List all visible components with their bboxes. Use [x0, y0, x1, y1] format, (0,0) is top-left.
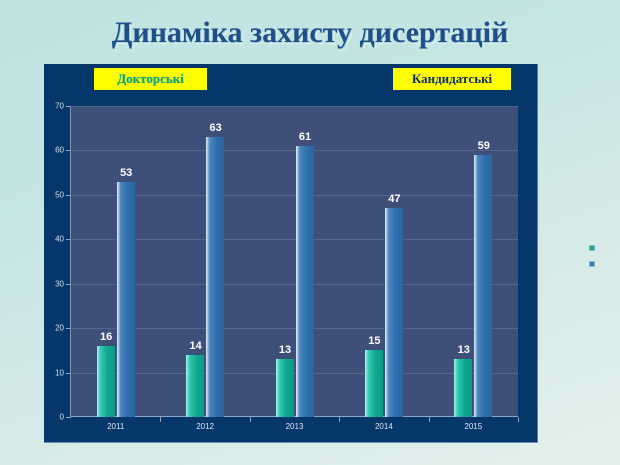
bar-candidate: 63 [206, 137, 224, 417]
y-axis-tick-label: 10 [38, 368, 64, 377]
x-axis-tick-mark [339, 417, 340, 422]
y-axis-tick-label: 0 [38, 413, 64, 422]
bar-value-label: 47 [388, 193, 400, 205]
gridline [71, 106, 518, 107]
bar-value-label: 14 [189, 340, 201, 352]
y-axis-tick-label: 70 [38, 102, 64, 111]
bar-candidate: 53 [117, 182, 135, 417]
bar-value-label: 15 [368, 335, 380, 347]
gridline [71, 195, 518, 196]
bar-value-label: 13 [279, 344, 291, 356]
y-axis-tick-label: 40 [38, 235, 64, 244]
gridline [71, 284, 518, 285]
x-axis-tick-mark [518, 417, 519, 422]
x-axis-line [71, 416, 518, 417]
x-axis-tick-label: 2014 [354, 422, 414, 431]
plot-area: 16531463136115471359 [71, 106, 518, 417]
bar-value-label: 61 [299, 131, 311, 143]
gridline [71, 373, 518, 374]
x-axis-tick-label: 2013 [265, 422, 325, 431]
mini-legend-swatch-doctoral [589, 245, 595, 251]
gridline [71, 150, 518, 151]
bar-candidate: 47 [385, 208, 403, 417]
x-axis-tick-mark [160, 417, 161, 422]
bar-candidate: 61 [296, 146, 314, 417]
gridline [71, 328, 518, 329]
x-axis-tick-mark [429, 417, 430, 422]
legend-item-candidate: Кандидатські [393, 68, 511, 90]
bar-value-label: 16 [100, 331, 112, 343]
bar-doctoral: 14 [186, 355, 204, 417]
bar-doctoral: 13 [454, 359, 472, 417]
mini-legend-swatch-candidate [589, 261, 595, 267]
bar-candidate: 59 [474, 155, 492, 417]
legend-item-doctoral: Докторські [94, 68, 207, 90]
x-axis-tick-label: 2011 [86, 422, 146, 431]
bar-value-label: 59 [478, 140, 490, 152]
bar-doctoral: 13 [276, 359, 294, 417]
chart-panel: Докторські Кандидатські 010203040506070 … [44, 64, 538, 443]
y-axis-tick-label: 60 [38, 146, 64, 155]
bar-doctoral: 16 [97, 346, 115, 417]
bar-value-label: 53 [120, 167, 132, 179]
bar-value-label: 63 [209, 122, 221, 134]
gridline [71, 239, 518, 240]
x-axis-tick-mark [250, 417, 251, 422]
y-axis-tick-label: 50 [38, 190, 64, 199]
x-axis-tick-label: 2015 [443, 422, 503, 431]
bar-doctoral: 15 [365, 350, 383, 417]
page-title: Динаміка захисту дисертацій [0, 16, 620, 50]
bar-value-label: 13 [458, 344, 470, 356]
y-axis-tick-label: 20 [38, 324, 64, 333]
y-axis-tick-label: 30 [38, 279, 64, 288]
x-axis-tick-label: 2012 [175, 422, 235, 431]
